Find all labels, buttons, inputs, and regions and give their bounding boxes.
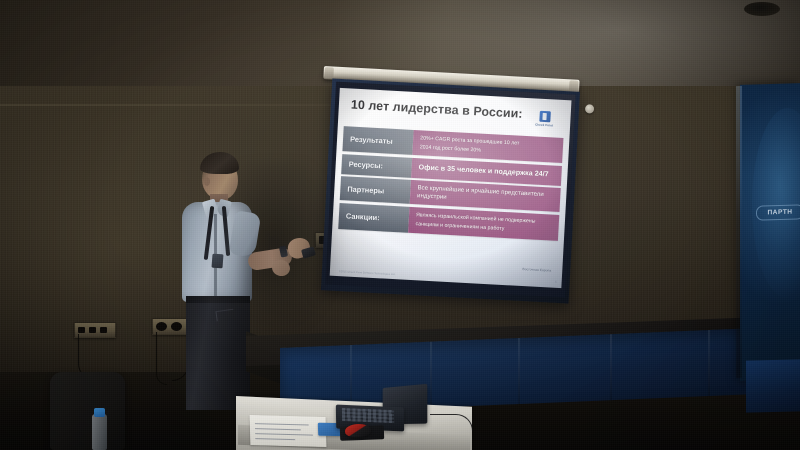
water-bottle — [92, 414, 107, 450]
check-point-logo: Check Point — [531, 110, 558, 127]
slide: 10 лет лидерства в России: Check Point Р… — [330, 88, 572, 288]
row-label: Санкции: — [338, 203, 409, 233]
banner-pole — [736, 86, 742, 378]
row-label: Результаты — [342, 126, 413, 155]
row-value: Являясь израильской компанией не подверж… — [408, 207, 559, 241]
check-point-logo-text: Check Point — [531, 122, 557, 127]
banner-base — [746, 359, 800, 412]
handout-papers — [250, 415, 327, 447]
slide-footer: ©2015 Check Point Software Technologies … — [339, 270, 396, 276]
row-value-line: Офис в 35 человек и поддержка 24/7 — [418, 163, 556, 179]
slide-credit: Восточная Европа — [522, 267, 551, 273]
ceiling-fixture-icon — [744, 2, 780, 16]
presenter-ear — [204, 177, 210, 186]
screen-frame: 10 лет лидерства в России: Check Point Р… — [321, 78, 580, 303]
banner-label: ПАРТН — [756, 204, 800, 220]
check-point-logo-mark — [539, 111, 551, 123]
bottle-cap — [94, 408, 105, 417]
row-label: Партнеры — [340, 176, 411, 204]
row-label: Ресурсы: — [341, 154, 412, 178]
projector-screen: 10 лет лидерства в России: Check Point Р… — [311, 66, 589, 312]
power-cable-center — [156, 332, 167, 385]
presenter-hair — [200, 152, 239, 174]
laptop-keyboard[interactable] — [342, 408, 394, 423]
slide-table: Результаты 20%+ CAGR роста за прошедшие … — [338, 126, 563, 243]
slide-page-number: 6 — [555, 280, 557, 284]
presentation-photo-scene: 10 лет лидерства в России: Check Point Р… — [0, 0, 800, 450]
presenter-belt — [186, 296, 250, 303]
slide-title: 10 лет лидерства в России: — [351, 98, 523, 121]
presenter-badge — [212, 254, 224, 269]
banner-label-text: ПАРТН — [767, 209, 792, 217]
chair — [50, 372, 125, 450]
screen-surface: 10 лет лидерства в России: Check Point Р… — [325, 82, 576, 298]
